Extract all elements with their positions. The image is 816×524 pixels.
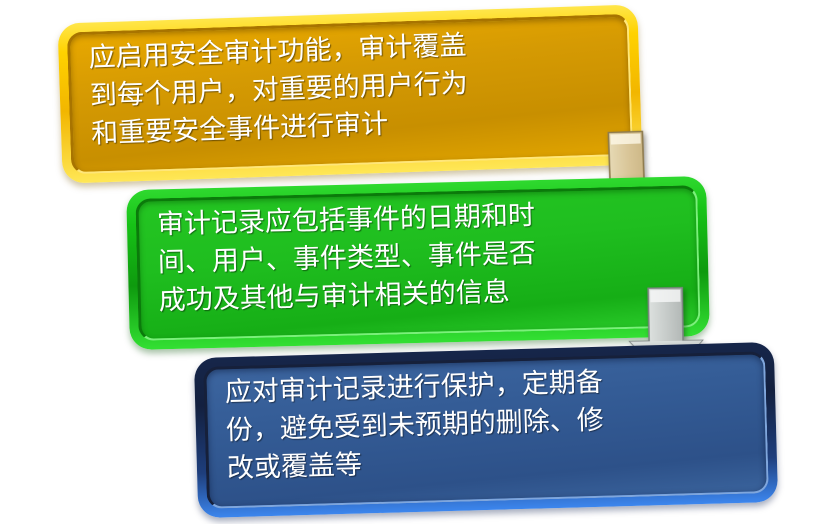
audit-record-content-box-inner: 审计记录应包括事件的日期和时 间、用户、事件类型、事件是否 成功及其他与审计相关…	[135, 185, 700, 341]
audit-enable-box[interactable]: 应启用安全审计功能，审计覆盖 到每个用户，对重要的用户行为 和重要安全事件进行审…	[58, 4, 643, 183]
audit-enable-box-inner: 应启用安全审计功能，审计覆盖 到每个用户，对重要的用户行为 和重要安全事件进行审…	[67, 14, 633, 175]
audit-enable-box-text: 应启用安全审计功能，审计覆盖 到每个用户，对重要的用户行为 和重要安全事件进行审…	[70, 16, 633, 162]
audit-record-protection-box-inner: 应对审计记录进行保护，定期备 份，避免受到未预期的删除、修 改或覆盖等	[203, 351, 769, 509]
slide-canvas: 应启用安全审计功能，审计覆盖 到每个用户，对重要的用户行为 和重要安全事件进行审…	[0, 0, 816, 524]
audit-record-content-box-text: 审计记录应包括事件的日期和时 间、用户、事件类型、事件是否 成功及其他与审计相关…	[138, 187, 700, 327]
audit-record-protection-box[interactable]: 应对审计记录进行保护，定期备 份，避免受到未预期的删除、修 改或覆盖等	[194, 342, 778, 518]
audit-record-protection-box-text: 应对审计记录进行保护，定期备 份，避免受到未预期的删除、修 改或覆盖等	[206, 353, 769, 495]
audit-record-content-box[interactable]: 审计记录应包括事件的日期和时 间、用户、事件类型、事件是否 成功及其他与审计相关…	[126, 176, 710, 350]
